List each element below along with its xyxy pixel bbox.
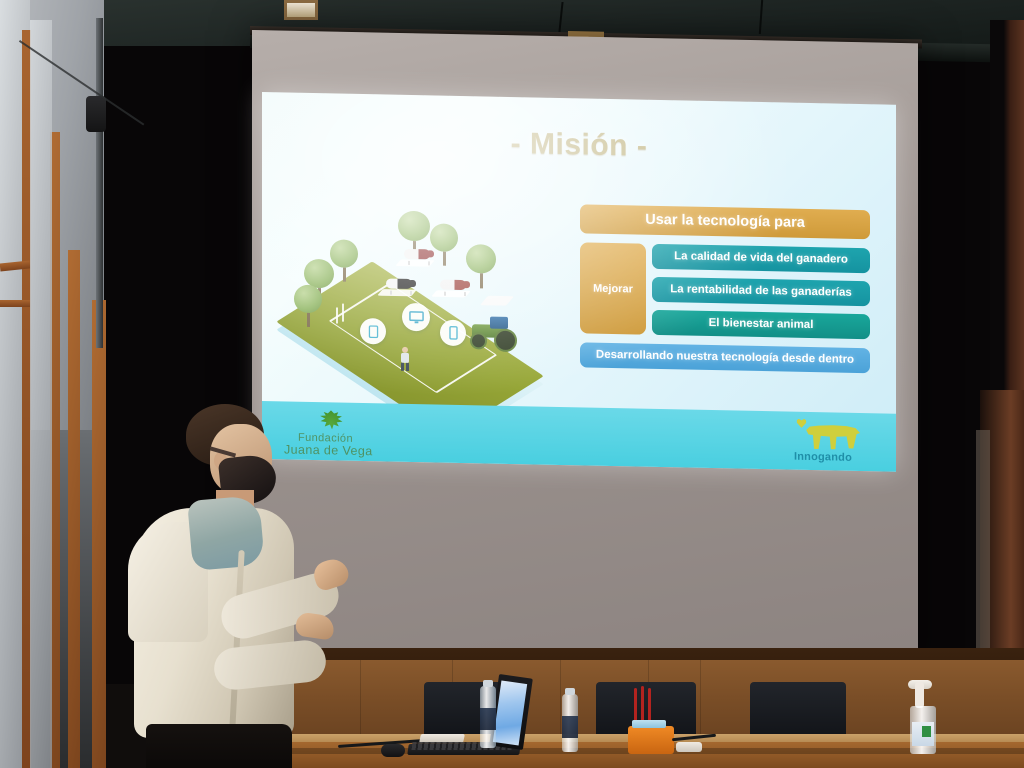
wood-grain-line [700, 660, 701, 738]
banner-usar-tecnologia: Usar la tecnología para [580, 204, 870, 239]
innogando-logo: Innogando [786, 418, 878, 470]
fence-post [342, 304, 344, 322]
wall-step-wood [92, 300, 106, 768]
mission-item: La rentabilidad de las ganaderías [652, 277, 870, 306]
wall-wood-frame [0, 300, 30, 307]
innogando-label: Innogando [794, 451, 852, 464]
right-wall-strip [976, 430, 990, 680]
wall-step-wood [68, 250, 80, 768]
mission-box-group: Usar la tecnología para Mejorar La calid… [580, 204, 870, 373]
slide-title: - Misión - [262, 122, 896, 169]
orange-device [628, 726, 674, 754]
isometric-farm-illustration [288, 203, 558, 398]
sanitizer-pump [915, 682, 924, 708]
ceiling-light-fixture [284, 0, 318, 20]
wall-metal-pole [96, 18, 103, 348]
cow-icon [404, 249, 430, 263]
phone-icon [440, 320, 466, 347]
cow-icon [386, 278, 412, 292]
mission-item: La calidad de vida del ganadero [652, 244, 870, 273]
tree-icon [294, 285, 322, 328]
label-mejorar: Mejorar [580, 242, 646, 334]
monitor-icon [402, 303, 430, 332]
presentation-photo-scene: - Misión - [0, 0, 1024, 768]
wall-step-panel [30, 20, 52, 768]
water-bottle-right [562, 694, 578, 752]
wall-speaker [86, 96, 106, 132]
tree-icon [466, 244, 496, 289]
presenter [128, 398, 378, 768]
water-bottle-left [480, 686, 496, 748]
cow-icon [440, 280, 466, 294]
presenter-hand-lower [295, 611, 336, 640]
tablet-icon [360, 318, 386, 345]
computer-mouse [381, 744, 405, 757]
presenter-trousers [146, 724, 292, 768]
wood-grain-line [560, 660, 561, 738]
farmer-icon [400, 347, 409, 371]
mejorar-row: Mejorar La calidad de vida del ganadero … [580, 242, 870, 339]
sanitizer-label-accent [922, 726, 931, 737]
tree-icon [330, 239, 358, 282]
small-white-object [676, 742, 702, 752]
tractor-icon [466, 316, 518, 347]
mission-items: La calidad de vida del ganadero La renta… [652, 244, 870, 339]
cow-heart-icon [804, 420, 860, 451]
banner-desarrollando: Desarrollando nuestra tecnología desde d… [580, 342, 870, 373]
fence-post [336, 307, 338, 323]
heart-icon [796, 418, 807, 428]
farm-white-panel [480, 296, 514, 306]
mission-item: El bienestar animal [652, 310, 870, 339]
presenter-scarf [187, 495, 265, 571]
